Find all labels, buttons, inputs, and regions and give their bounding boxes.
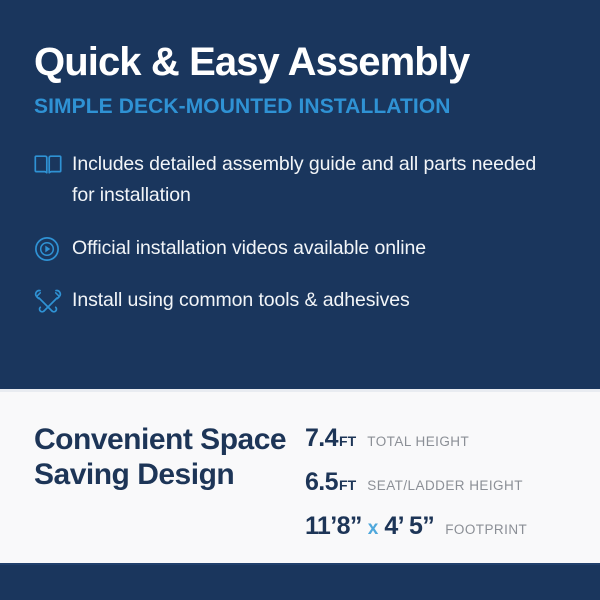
spec-row-seat-ladder-height: 6.5 FT SEAT/LADDER HEIGHT [305, 468, 580, 497]
footer-band [0, 563, 600, 600]
spec-row-footprint: 11’8” x 4’ 5” FOOTPRINT [305, 512, 580, 541]
page-subtitle: SIMPLE DECK-MOUNTED INSTALLATION [34, 95, 566, 119]
play-circle-icon [34, 234, 72, 264]
spec-value-width: 11’8” [305, 512, 362, 541]
list-item: Official installation videos available o… [34, 233, 566, 265]
list-item: Install using common tools & adhesives [34, 285, 566, 317]
design-heading: Convenient Space Saving Design [34, 422, 299, 493]
open-book-icon [34, 150, 72, 180]
spec-dimension-separator: x [368, 518, 379, 540]
spec-row-total-height: 7.4 FT TOTAL HEIGHT [305, 424, 580, 453]
spec-label: SEAT/LADDER HEIGHT [367, 478, 523, 493]
design-specs-panel: Convenient Space Saving Design 7.4 FT TO… [0, 392, 600, 563]
spec-value-depth: 4’ 5” [384, 512, 434, 541]
list-item: Includes detailed assembly guide and all… [34, 149, 566, 212]
spec-unit: FT [339, 433, 356, 449]
list-item-label: Includes detailed assembly guide and all… [72, 149, 542, 212]
spec-label: TOTAL HEIGHT [367, 434, 469, 449]
list-item-label: Official installation videos available o… [72, 233, 426, 265]
spec-list: 7.4 FT TOTAL HEIGHT 6.5 FT SEAT/LADDER H… [299, 422, 580, 541]
spec-value: 6.5 [305, 468, 338, 497]
list-item-label: Install using common tools & adhesives [72, 285, 410, 317]
spec-value: 7.4 [305, 424, 338, 453]
spec-unit: FT [339, 477, 356, 493]
spec-label: FOOTPRINT [445, 522, 527, 537]
assembly-hero-panel: Quick & Easy Assembly SIMPLE DECK-MOUNTE… [0, 0, 600, 389]
page-title: Quick & Easy Assembly [34, 42, 566, 84]
footer-band-highlight [0, 563, 600, 565]
tools-wrench-screwdriver-icon [34, 286, 72, 316]
feature-list: Includes detailed assembly guide and all… [34, 149, 566, 317]
product-feature-poster: Quick & Easy Assembly SIMPLE DECK-MOUNTE… [0, 0, 600, 600]
